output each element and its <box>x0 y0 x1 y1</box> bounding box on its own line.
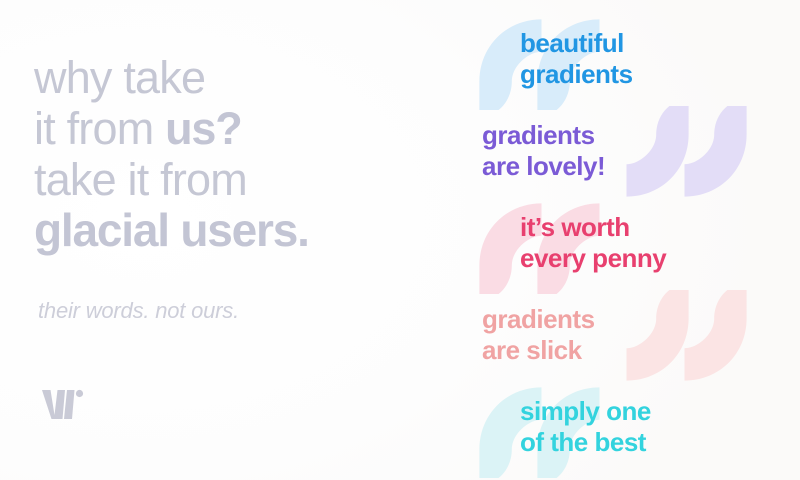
testimonial-text: gradients are slick <box>482 304 595 366</box>
testimonial-card-3: it’s worth every penny <box>460 198 800 294</box>
testimonial-line-1: it’s worth <box>520 212 666 243</box>
testimonial-line-1: gradients <box>482 120 605 151</box>
testimonial-line-1: simply one <box>520 396 651 427</box>
testimonial-card-2: gradients are lovely! <box>460 106 800 202</box>
testimonial-line-1: beautiful <box>520 28 633 59</box>
quote-mark-icon <box>602 106 752 202</box>
testimonial-text: simply one of the best <box>520 396 651 458</box>
hero-subtitle: their words. not ours. <box>34 256 460 324</box>
testimonial-line-2: of the best <box>520 427 651 458</box>
testimonial-line-2: are slick <box>482 335 595 366</box>
testimonial-text: gradients are lovely! <box>482 120 605 182</box>
testimonial-list: beautiful gradients gradients are lovely… <box>460 0 800 480</box>
testimonial-line-2: every penny <box>520 243 666 274</box>
testimonial-text: it’s worth every penny <box>520 212 666 274</box>
headline-line-2: it from us? <box>34 103 460 154</box>
hero-panel: why take it from us? take it from glacia… <box>0 0 460 480</box>
testimonial-card-4: gradients are slick <box>460 290 800 386</box>
headline-line-2-emphasis: us? <box>165 103 241 154</box>
testimonial-card-5: simply one of the best <box>460 382 800 478</box>
testimonial-card-1: beautiful gradients <box>460 14 800 110</box>
testimonial-text: beautiful gradients <box>520 28 633 90</box>
testimonial-line-2: are lovely! <box>482 151 605 182</box>
quote-mark-icon <box>602 290 752 386</box>
headline-line-2-regular: it from <box>34 103 165 154</box>
headline-line-1: why take <box>34 52 460 103</box>
testimonial-line-2: gradients <box>520 59 633 90</box>
testimonial-line-1: gradients <box>482 304 595 335</box>
headline-line-3: take it from <box>34 154 460 205</box>
testimonial-page: why take it from us? take it from glacia… <box>0 0 800 480</box>
page-title: why take it from us? take it from glacia… <box>34 52 460 256</box>
w-logo-mark <box>40 388 84 422</box>
headline-line-4: glacial users. <box>34 205 460 256</box>
